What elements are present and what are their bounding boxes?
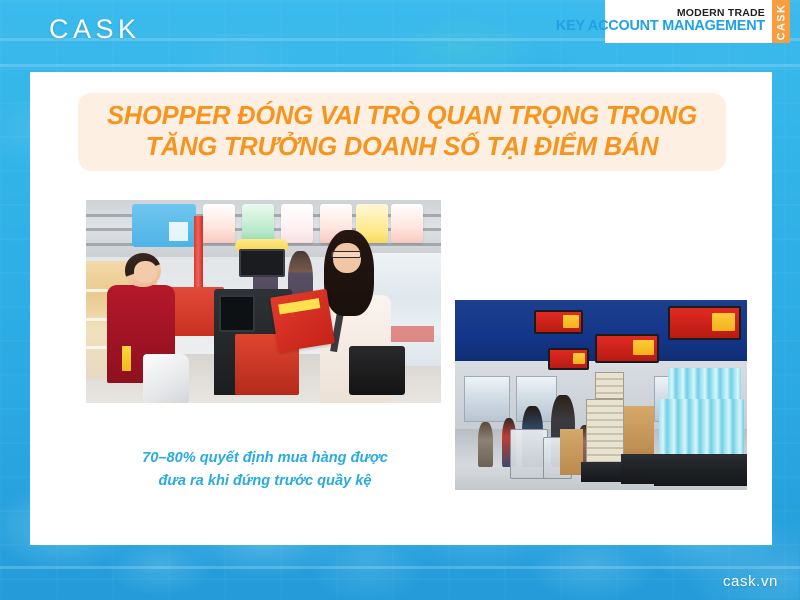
content-card: SHOPPER ĐÓNG VAI TRÒ QUAN TRỌNG TRONG TĂ…: [30, 72, 772, 545]
caption-statistic: 70–80% quyết định mua hàng được đưa ra k…: [70, 447, 460, 492]
cask-side-tab-label: CASK: [775, 3, 787, 40]
caption-line2: đưa ra khi đứng trước quầy kệ: [70, 470, 460, 493]
header-badge-line2: KEY ACCOUNT MANAGEMENT: [556, 19, 765, 35]
cask-side-tab: CASK: [772, 0, 790, 43]
caption-line1: 70–80% quyết định mua hàng được: [70, 447, 460, 470]
cask-logo: CASK: [49, 16, 141, 43]
page-title-line1: SHOPPER ĐÓNG VAI TRÒ QUAN TRỌNG TRONG: [88, 101, 716, 132]
website-url: cask.vn: [723, 573, 778, 590]
header-badge: MODERN TRADE KEY ACCOUNT MANAGEMENT: [605, 0, 772, 43]
photo-supermarket-aisle-promotion: [455, 300, 747, 490]
page-title-line2: TĂNG TRƯỞNG DOANH SỐ TẠI ĐIỂM BÁN: [88, 132, 716, 163]
photo-supermarket-checkout-counter: [86, 200, 441, 403]
page-title: SHOPPER ĐÓNG VAI TRÒ QUAN TRỌNG TRONG TĂ…: [78, 93, 726, 171]
